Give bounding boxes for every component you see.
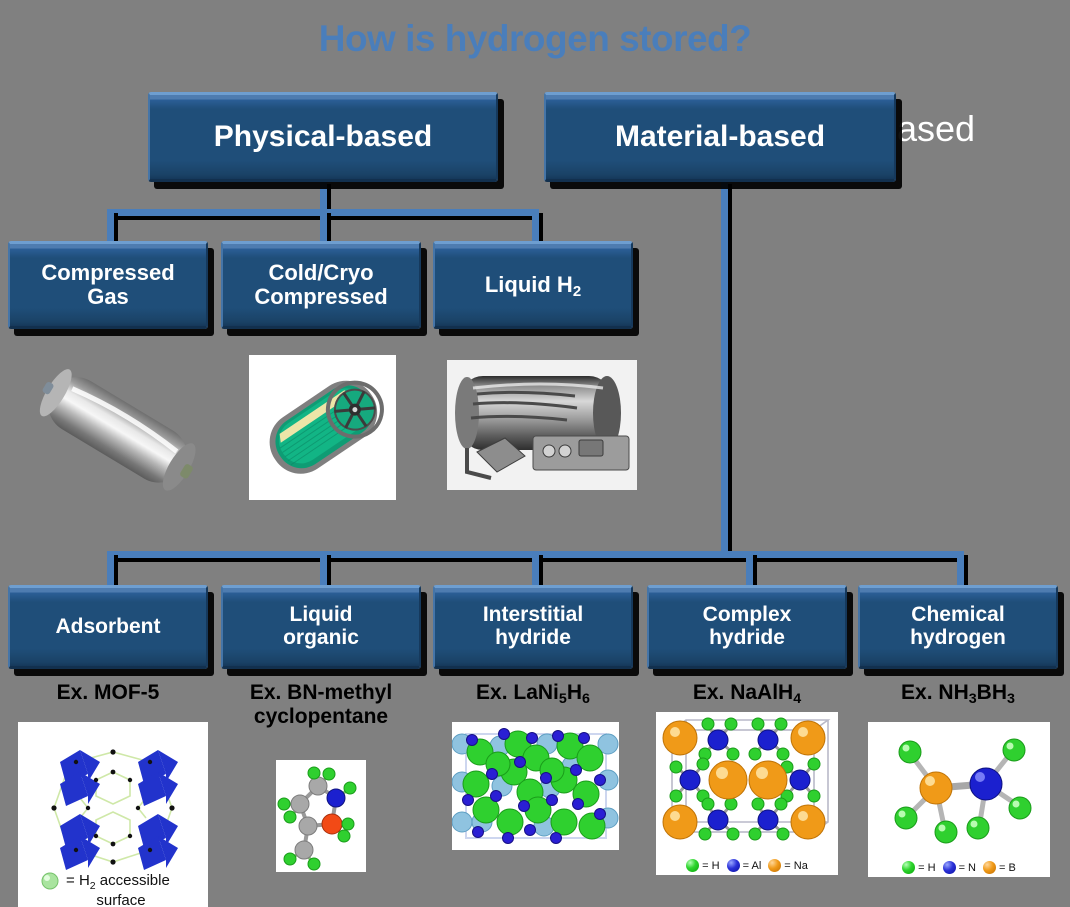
node-liquid-organic-label: Liquid organic	[278, 604, 364, 649]
example-nh3bh3-sub2: 3	[1007, 691, 1015, 707]
node-compressed-gas-line1: Compressed	[41, 260, 174, 285]
node-complex-line2: hydride	[709, 626, 785, 649]
naalh4-legend-na-label: = Na	[784, 860, 808, 872]
node-cold-cryo-compressed[interactable]: Cold/Cryo Compressed	[221, 241, 421, 329]
mof5-legend-surface: surface	[38, 893, 204, 907]
node-liquid-h2-label: Liquid H2	[480, 273, 586, 297]
node-cold-cryo-line2: Compressed	[254, 284, 387, 309]
node-adsorbent[interactable]: Adsorbent	[8, 585, 208, 669]
example-nh3bh3-a: Ex. NH	[901, 681, 969, 704]
mof5-legend-accessible: accessible	[96, 872, 170, 889]
nh3bh3-legend: = H = N = B	[868, 861, 1050, 874]
node-liquid-organic-line1: Liquid	[290, 603, 353, 626]
node-chemical-hydrogen[interactable]: Chemical hydrogen	[858, 585, 1058, 669]
example-nh3bh3-b: BH	[977, 681, 1007, 704]
node-liquid-organic[interactable]: Liquid organic	[221, 585, 421, 669]
nh3bh3-legend-h: = H	[902, 861, 935, 874]
connector-drop-liquid-h2	[532, 209, 539, 241]
node-cold-cryo-label: Cold/Cryo Compressed	[249, 261, 392, 309]
bn-methyl-cyclopentane-molecule	[276, 760, 366, 872]
nh3bh3-legend-h-label: = H	[918, 862, 935, 874]
connector-drop-compressed-gas	[107, 209, 114, 241]
mof5-structure-image: = H2 accessible surface	[18, 722, 208, 907]
naalh4-crystal-structure: = H = Al = Na	[656, 712, 838, 875]
example-caption-naalh4: Ex. NaAlH4	[647, 681, 847, 705]
h-species-dot-icon	[902, 861, 915, 874]
node-complex-hydride-label: Complex hydride	[698, 604, 797, 649]
nh3bh3-legend-b: = B	[983, 861, 1016, 874]
naalh4-legend-h-label: = H	[702, 860, 719, 872]
liquid-hydrogen-tank-photo	[447, 360, 637, 490]
node-compressed-gas-line2: Gas	[87, 284, 129, 309]
mof5-legend-equals: =	[66, 872, 75, 889]
example-lani5h6-b: H	[567, 681, 582, 704]
connector-drop-complex	[746, 551, 753, 585]
node-chemical-line1: Chemical	[911, 603, 1004, 626]
occluded-based-text: ased	[897, 108, 975, 150]
node-interstitial-hydride[interactable]: Interstitial hydride	[433, 585, 633, 669]
node-compressed-gas[interactable]: Compressed Gas	[8, 241, 208, 329]
slide-canvas: How is hydrogen stored? ased Physical-ba…	[0, 0, 1070, 907]
example-naalh4-a: Ex. NaAlH	[693, 681, 793, 704]
example-nh3bh3-sub1: 3	[969, 691, 977, 707]
node-material-based[interactable]: Material-based	[544, 92, 896, 182]
node-adsorbent-label: Adsorbent	[51, 616, 166, 639]
nh3bh3-legend-n: = N	[943, 861, 976, 874]
naalh4-legend-al-label: = Al	[743, 860, 762, 872]
h-species-dot-icon	[686, 859, 699, 872]
al-species-dot-icon	[727, 859, 740, 872]
node-liquid-organic-line2: organic	[283, 626, 359, 649]
example-caption-bn-methyl: Ex. BN-methyl cyclopentane	[221, 681, 421, 728]
naalh4-legend-al: = Al	[727, 859, 762, 872]
cryo-compressed-tank-cutaway	[249, 355, 396, 500]
example-bn-methyl-line2: cyclopentane	[254, 705, 388, 728]
naalh4-legend-na: = Na	[768, 859, 808, 872]
connector-drop-chemical	[957, 551, 964, 585]
na-species-dot-icon	[768, 859, 781, 872]
node-interstitial-hydride-label: Interstitial hydride	[478, 604, 588, 649]
naalh4-legend-h: = H	[686, 859, 719, 872]
node-liquid-h2[interactable]: Liquid H2	[433, 241, 633, 329]
b-species-dot-icon	[983, 861, 996, 874]
node-physical-based-label: Physical-based	[209, 121, 437, 153]
example-lani5h6-a: Ex. LaNi	[476, 681, 559, 704]
connector-drop-interstitial	[532, 551, 539, 585]
nh3bh3-legend-n-label: = N	[959, 862, 976, 874]
node-interstitial-line2: hydride	[495, 626, 571, 649]
node-complex-line1: Complex	[703, 603, 792, 626]
connector-material-stem	[721, 180, 728, 555]
lani5h6-crystal-structure	[452, 722, 619, 850]
mof5-legend-h: H	[79, 872, 90, 889]
node-interstitial-line1: Interstitial	[483, 603, 583, 626]
mof5-legend: = H2 accessible surface	[66, 873, 204, 907]
page-title: How is hydrogen stored?	[0, 18, 1070, 60]
example-bn-methyl-line1: Ex. BN-methyl	[250, 681, 392, 704]
connector-drop-liquid-organic	[320, 551, 327, 585]
node-compressed-gas-label: Compressed Gas	[36, 261, 179, 309]
example-caption-mof5: Ex. MOF-5	[8, 681, 208, 705]
node-liquid-h2-subscript: 2	[573, 283, 581, 300]
naalh4-legend: = H = Al = Na	[656, 859, 838, 872]
node-material-based-label: Material-based	[610, 121, 830, 153]
node-chemical-hydrogen-label: Chemical hydrogen	[905, 604, 1011, 649]
node-liquid-h2-text: Liquid H	[485, 272, 573, 297]
node-physical-based[interactable]: Physical-based	[148, 92, 498, 182]
node-chemical-line2: hydrogen	[910, 626, 1006, 649]
example-caption-nh3bh3: Ex. NH3BH3	[858, 681, 1058, 705]
example-mof5-text: Ex. MOF-5	[57, 681, 160, 704]
node-cold-cryo-line1: Cold/Cryo	[268, 260, 373, 285]
connector-drop-adsorbent	[107, 551, 114, 585]
example-naalh4-sub: 4	[793, 691, 801, 707]
example-caption-lani5h6: Ex. LaNi5H6	[433, 681, 633, 705]
example-lani5h6-sub2: 6	[582, 691, 590, 707]
n-species-dot-icon	[943, 861, 956, 874]
nh3bh3-molecule: = H = N = B	[868, 722, 1050, 877]
nh3bh3-legend-b-label: = B	[999, 862, 1016, 874]
compressed-gas-cylinder-photo	[28, 352, 208, 507]
example-lani5h6-sub1: 5	[559, 691, 567, 707]
connector-drop-cold-cryo	[320, 209, 327, 241]
node-complex-hydride[interactable]: Complex hydride	[647, 585, 847, 669]
